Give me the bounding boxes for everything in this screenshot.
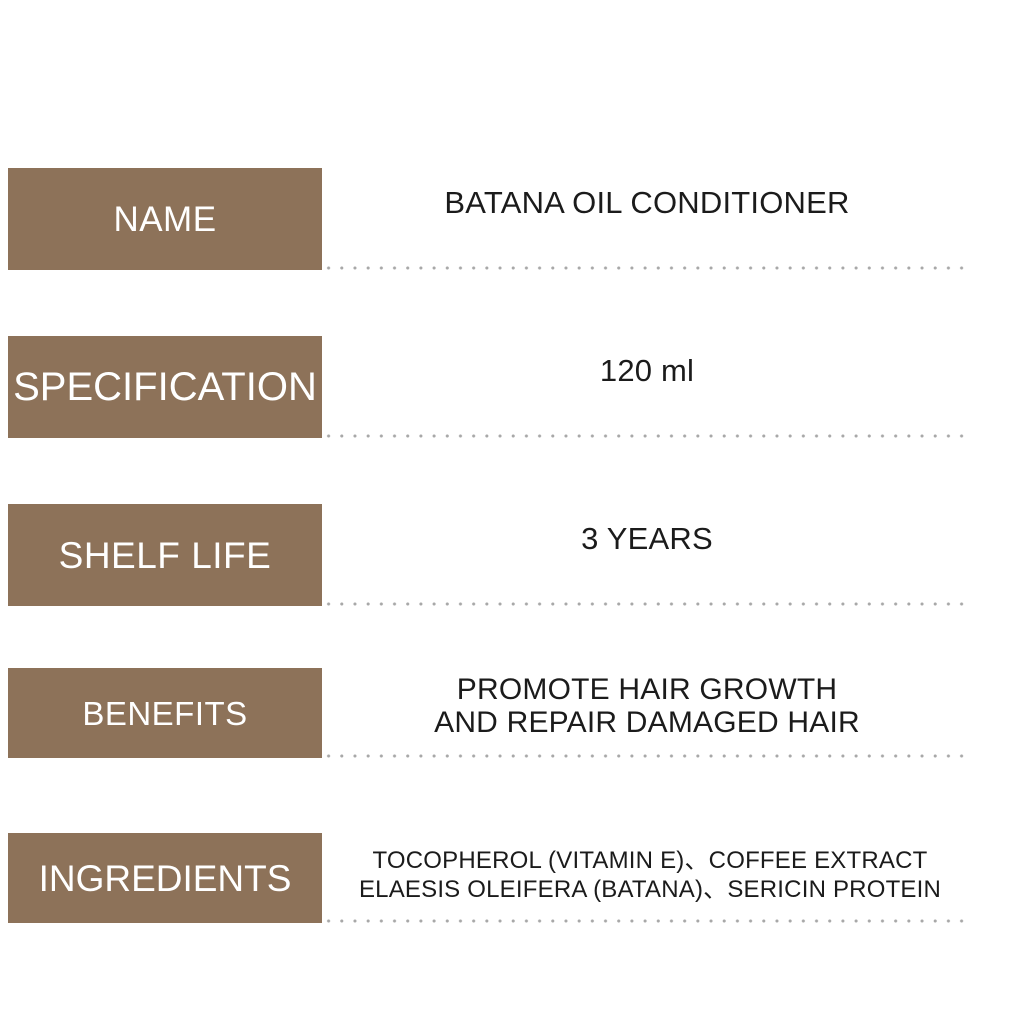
label-block-shelf-life: SHELF LIFE — [8, 504, 322, 606]
spec-row-shelf-life: SHELF LIFE 3 YEARS — [0, 504, 1024, 608]
value-cell-ingredients: TOCOPHEROL (VITAMIN E)、COFFEE EXTRACT EL… — [328, 833, 972, 917]
row-divider-dotted — [322, 266, 970, 270]
value-cell-shelf-life: 3 YEARS — [322, 506, 972, 572]
spec-label: SPECIFICATION — [13, 367, 317, 407]
value-cell-benefits: PROMOTE HAIR GROWTH AND REPAIR DAMAGED H… — [322, 664, 972, 748]
spec-value: 120 ml — [600, 354, 694, 389]
row-divider-dotted — [322, 919, 970, 923]
spec-value: BATANA OIL CONDITIONER — [444, 186, 849, 221]
spec-row-benefits: BENEFITS PROMOTE HAIR GROWTH AND REPAIR … — [0, 668, 1024, 760]
spec-value: PROMOTE HAIR GROWTH AND REPAIR DAMAGED H… — [434, 673, 860, 739]
row-divider-dotted — [322, 434, 970, 438]
label-block-specification: SPECIFICATION — [8, 336, 322, 438]
value-cell-name: BATANA OIL CONDITIONER — [322, 170, 972, 236]
spec-label: INGREDIENTS — [39, 860, 292, 897]
spec-row-name: NAME BATANA OIL CONDITIONER — [0, 168, 1024, 272]
spec-row-specification: SPECIFICATION 120 ml — [0, 336, 1024, 440]
spec-label: SHELF LIFE — [59, 537, 272, 574]
row-divider-dotted — [322, 754, 970, 758]
label-block-name: NAME — [8, 168, 322, 270]
spec-value: TOCOPHEROL (VITAMIN E)、COFFEE EXTRACT EL… — [359, 846, 941, 905]
product-specification-table: NAME BATANA OIL CONDITIONER SPECIFICATIO… — [0, 0, 1024, 1024]
label-block-benefits: BENEFITS — [8, 668, 322, 758]
value-cell-specification: 120 ml — [322, 338, 972, 404]
row-divider-dotted — [322, 602, 970, 606]
spec-value: 3 YEARS — [581, 522, 713, 557]
label-block-ingredients: INGREDIENTS — [8, 833, 322, 923]
spec-label: BENEFITS — [82, 697, 247, 730]
spec-row-ingredients: INGREDIENTS TOCOPHEROL (VITAMIN E)、COFFE… — [0, 833, 1024, 925]
spec-label: NAME — [113, 202, 216, 237]
